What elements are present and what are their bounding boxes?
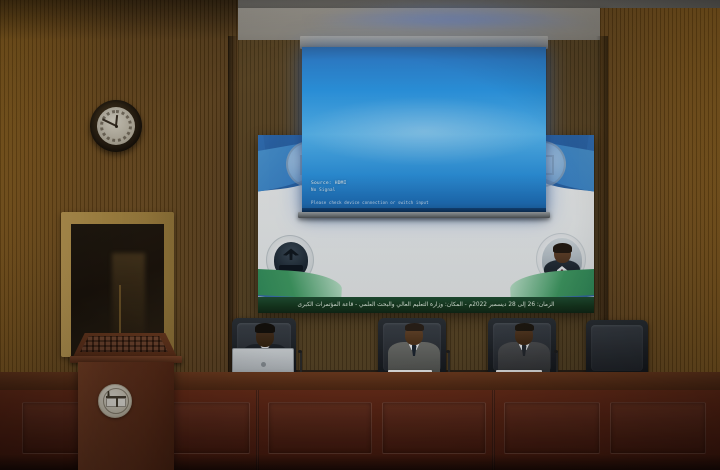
banner-footer-text: الزمان: 26 إلى 28 ديسمبر 2022م - المكان:… <box>297 302 554 308</box>
chair-4-backrest <box>591 325 643 371</box>
conference-hall-photo: تحت شعار / البحث العلمي أساس التنمية الم… <box>0 0 720 470</box>
doorway-inner-light <box>112 253 145 346</box>
banner-footer-strip: الزمان: 26 إلى 28 ديسمبر 2022م - المكان:… <box>258 297 594 313</box>
crest-eagle-icon <box>283 248 299 260</box>
banner-wave-bottom-right-green <box>509 269 594 300</box>
podium-seal-book-icon <box>106 396 126 407</box>
microphone-head-2 <box>446 350 450 353</box>
banner-wave-bottom-left-green <box>258 269 343 300</box>
microphone-head-1 <box>298 350 302 353</box>
wall-clock <box>90 100 142 152</box>
table-panel-3 <box>268 402 372 454</box>
podium-seal-emblem <box>98 384 132 418</box>
portrait-hair <box>553 243 572 253</box>
podium-body <box>78 362 174 470</box>
projector-screen: Source: HDMI No Signal Please check devi… <box>302 47 546 215</box>
projector-footer-text: Please check device connection or switch… <box>311 200 429 205</box>
projector-screen-sheen <box>302 97 546 164</box>
microphone-stand-2 <box>448 352 450 372</box>
table-panel-6 <box>610 402 706 454</box>
projector-osd-line-2: No Signal <box>311 187 347 193</box>
microphone-stand-3 <box>556 352 558 372</box>
clock-center-pin <box>115 125 118 128</box>
podium-top-grille <box>80 336 168 352</box>
panelist-1-hair <box>255 323 275 333</box>
microphone-stand-1 <box>300 352 302 374</box>
panelist-2-hair <box>405 323 424 331</box>
projector-osd: Source: HDMI No Signal <box>311 181 347 193</box>
wall-left-shadow <box>0 0 238 40</box>
chair-seat-4-empty <box>586 320 648 376</box>
clock-face <box>97 107 135 145</box>
ceiling-screen-glow <box>300 0 600 26</box>
panelist-3-hair <box>515 323 534 331</box>
microphone-head-3 <box>554 350 558 353</box>
table-panel-5 <box>504 402 600 454</box>
table-panel-4 <box>382 402 486 454</box>
laptop-logo-icon <box>261 362 266 367</box>
projector-screen-weight-bar <box>298 212 550 218</box>
